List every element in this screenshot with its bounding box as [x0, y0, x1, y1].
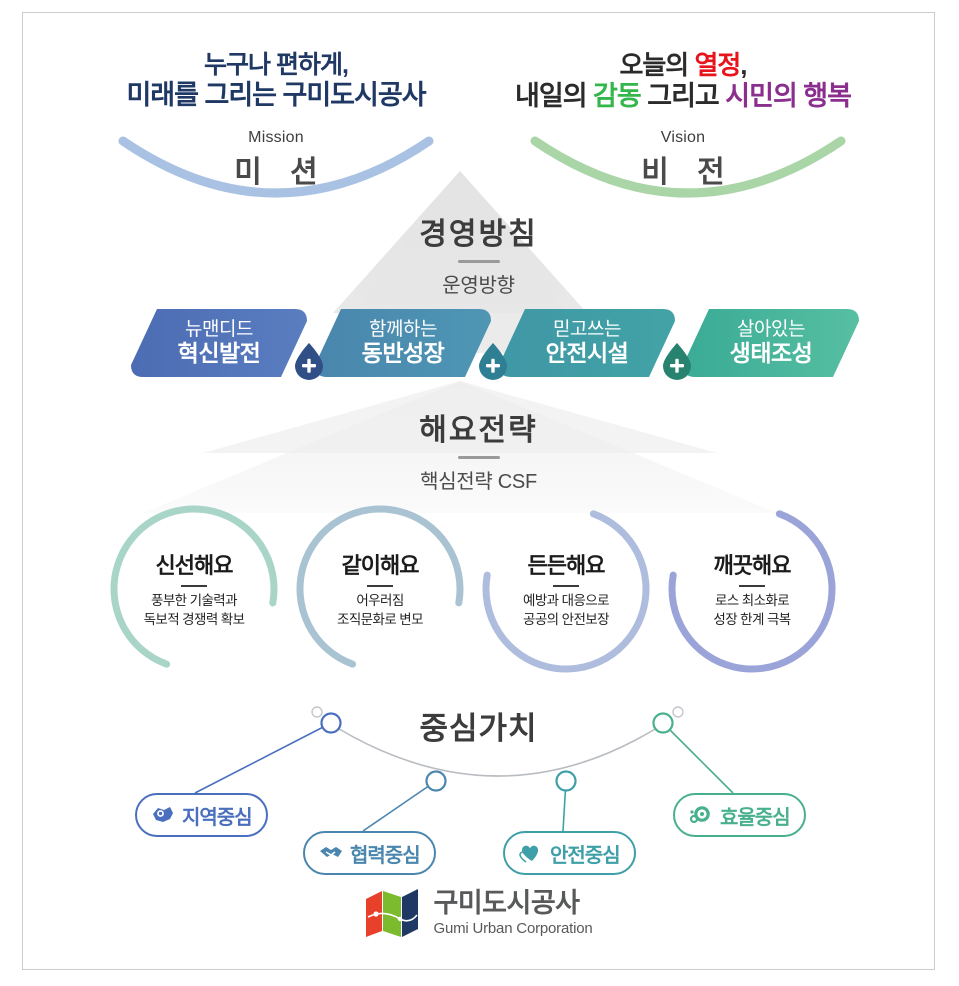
- core-value-pill-1[interactable]: 지역중심: [135, 793, 268, 837]
- policy-plus-connector-3: [660, 341, 694, 381]
- policy-chevron-3[interactable]: 믿고쓰는안전시설: [499, 307, 675, 379]
- core-value-pill-3-label: 안전중심: [550, 839, 620, 868]
- core-value-pill-4-label: 효율중심: [720, 801, 790, 830]
- vision-l2-b: 그리고: [641, 81, 726, 111]
- policy-chevron-1-line1: 뉴맨디드: [185, 319, 253, 340]
- handshake-icon: [319, 843, 344, 864]
- vision-l2-a: 내일의: [515, 81, 593, 111]
- logo-name-ko: 구미도시공사: [433, 890, 592, 917]
- gear-icon: [689, 805, 714, 826]
- vision-headline: 오늘의 열정, 내일의 감동 그리고 시민의 행복: [478, 51, 888, 112]
- policy-plus-connector-1: [292, 341, 326, 381]
- strategy-circle-3-rule: [553, 585, 579, 587]
- strategy-circle-1-title: 신선해요: [156, 548, 233, 580]
- policy-chevron-3-line1: 믿고쓰는: [553, 319, 621, 340]
- strategy-circle-1[interactable]: 신선해요풍부한 기술력과독보적 경쟁력 확보: [118, 513, 270, 665]
- core-values-row: 지역중심협력중심안전중심효율중심: [23, 753, 934, 873]
- vision-label-ko: 비 전: [478, 147, 888, 191]
- policy-plus-connector-2: [476, 341, 510, 381]
- vision-label-en: Vision: [478, 129, 888, 147]
- vision-label-group: Vision 비 전: [478, 129, 888, 191]
- strategy-circle-1-desc: 풍부한 기술력과독보적 경쟁력 확보: [144, 592, 245, 629]
- policy-chevron-3-line2: 안전시설: [546, 341, 629, 367]
- mission-label-group: Mission 미 션: [81, 129, 471, 191]
- mission-label-ko: 미 션: [81, 147, 471, 191]
- core-value-pill-1-label: 지역중심: [182, 801, 252, 830]
- policy-rule: [458, 260, 500, 263]
- policy-section-heading: 경영방침 운영방향: [23, 209, 934, 298]
- mission-headline: 누구나 편하게, 미래를 그리는 구미도시공사: [81, 51, 471, 111]
- policy-chevron-1-line2: 혁신발전: [178, 341, 261, 367]
- vision-l1-post: ,: [740, 50, 746, 80]
- company-logo: 구미도시공사 Gumi Urban Corporation: [23, 875, 934, 951]
- policy-subtitle: 운영방향: [23, 269, 934, 298]
- policy-chevron-4-line2: 생태조성: [730, 341, 813, 367]
- infographic-frame: 누구나 편하게, 미래를 그리는 구미도시공사 Mission 미 션 오늘의 …: [22, 12, 935, 970]
- strategy-circle-1-rule: [181, 585, 207, 587]
- core-value-pill-2-label: 협력중심: [350, 839, 420, 868]
- strategy-rule: [458, 456, 500, 459]
- policy-chevron-4-line1: 살아있는: [737, 319, 805, 340]
- strategy-circle-4-content: 깨끗해요로스 최소화로성장 한계 극복: [676, 513, 828, 665]
- core-value-pill-3[interactable]: 안전중심: [503, 831, 636, 875]
- strategy-subtitle: 핵심전략 CSF: [23, 465, 934, 494]
- logo-name-en: Gumi Urban Corporation: [433, 921, 592, 936]
- vision-headline-line1: 오늘의 열정,: [478, 51, 888, 81]
- strategy-circle-3[interactable]: 든든해요예방과 대응으로공공의 안전보장: [490, 513, 642, 665]
- core-values-section-heading: 중심가치: [23, 703, 934, 748]
- vision-headline-line2: 내일의 감동 그리고 시민의 행복: [478, 81, 888, 112]
- mission-headline-line2: 미래를 그리는 구미도시공사: [81, 80, 471, 111]
- map-pin-icon: [151, 805, 176, 826]
- strategy-section-heading: 해요전략 핵심전략 CSF: [23, 405, 934, 494]
- core-value-pill-4[interactable]: 효율중심: [673, 793, 806, 837]
- vision-keyword-happiness: 시민의 행복: [725, 81, 851, 111]
- strategy-circle-3-title: 든든해요: [528, 548, 605, 580]
- strategy-circle-4[interactable]: 깨끗해요로스 최소화로성장 한계 극복: [676, 513, 828, 665]
- core-values-title: 중심가치: [23, 703, 934, 748]
- policy-chevron-2-line2: 동반성장: [362, 341, 445, 367]
- strategy-title: 해요전략: [23, 405, 934, 449]
- vision-l1-pre: 오늘의: [619, 50, 694, 80]
- strategy-circle-4-rule: [739, 585, 765, 587]
- policy-title: 경영방침: [23, 209, 934, 253]
- strategy-circle-4-desc: 로스 최소화로성장 한계 극복: [713, 592, 790, 629]
- strategy-circle-1-content: 신선해요풍부한 기술력과독보적 경쟁력 확보: [118, 513, 270, 665]
- vision-keyword-emotion: 감동: [593, 81, 641, 111]
- vision-keyword-passion: 열정: [694, 50, 740, 80]
- policy-chevron-band: 뉴맨디드혁신발전함께하는동반성장믿고쓰는안전시설살아있는생태조성: [23, 307, 934, 393]
- strategy-circle-4-title: 깨끗해요: [714, 548, 791, 580]
- mission-label-en: Mission: [81, 129, 471, 147]
- strategy-circle-3-desc: 예방과 대응으로공공의 안전보장: [523, 592, 609, 629]
- policy-chevron-1[interactable]: 뉴맨디드혁신발전: [131, 307, 307, 379]
- strategy-circle-2-desc: 어우러짐조직문화로 변모: [337, 592, 423, 629]
- strategy-circle-2-content: 같이해요어우러짐조직문화로 변모: [304, 513, 456, 665]
- strategy-circle-2-title: 같이해요: [342, 548, 419, 580]
- mission-headline-line1: 누구나 편하게,: [81, 51, 471, 80]
- policy-chevron-2[interactable]: 함께하는동반성장: [315, 307, 491, 379]
- core-value-pill-2[interactable]: 협력중심: [303, 831, 436, 875]
- policy-chevron-4[interactable]: 살아있는생태조성: [683, 307, 859, 379]
- logo-mark-icon: [364, 887, 420, 939]
- heart-icon: [519, 843, 544, 864]
- strategy-circle-2-rule: [367, 585, 393, 587]
- strategy-circle-row: 신선해요풍부한 기술력과독보적 경쟁력 확보같이해요어우러짐조직문화로 변모든든…: [23, 499, 934, 679]
- policy-chevron-2-line1: 함께하는: [369, 319, 437, 340]
- strategy-circle-2[interactable]: 같이해요어우러짐조직문화로 변모: [304, 513, 456, 665]
- strategy-circle-3-content: 든든해요예방과 대응으로공공의 안전보장: [490, 513, 642, 665]
